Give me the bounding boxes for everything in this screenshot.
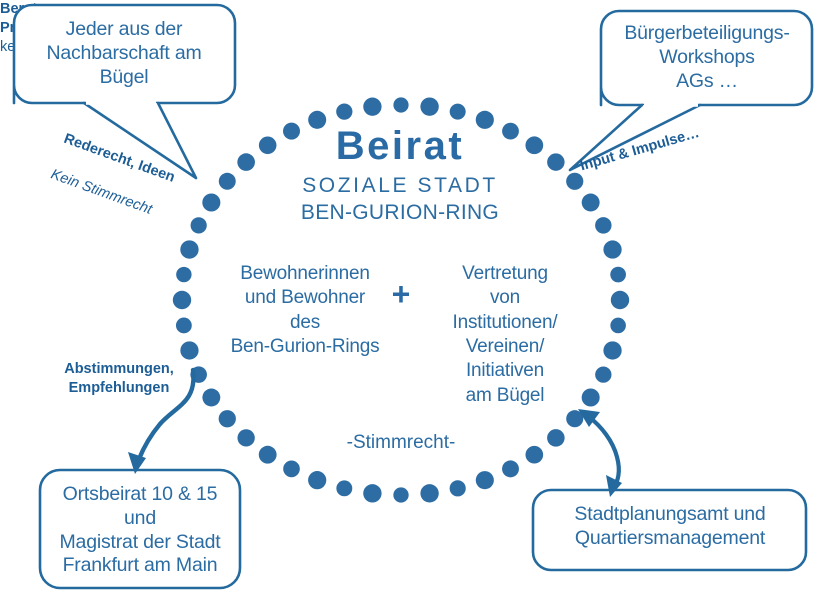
ring-dot bbox=[603, 341, 621, 359]
ring-dot bbox=[610, 318, 626, 334]
ring-dot bbox=[176, 318, 192, 334]
ring-dot bbox=[476, 471, 494, 489]
speech-bubble-top-left-text: Jeder aus der Nachbarschaft am Bügel bbox=[20, 18, 228, 89]
ring-dot bbox=[202, 193, 220, 211]
ring-dot bbox=[525, 446, 543, 464]
ring-dot bbox=[393, 97, 408, 112]
ring-dot bbox=[363, 98, 381, 116]
ring-dot bbox=[595, 217, 611, 233]
page-title: Beirat bbox=[260, 126, 540, 166]
ring-dot bbox=[610, 267, 626, 283]
subtitle-soziale-stadt: SOZIALE STADT bbox=[260, 175, 540, 196]
ring-dot bbox=[450, 104, 466, 120]
ring-dot bbox=[420, 484, 438, 502]
voting-rights-note: -Stimmrecht- bbox=[318, 431, 484, 454]
speech-bubble-top-right-text: Bürgerbeteiligungs- Workshops AGs … bbox=[606, 22, 808, 93]
ring-dot bbox=[237, 429, 254, 446]
ring-dot bbox=[219, 173, 236, 190]
ring-dot bbox=[450, 480, 466, 496]
box-bottom-right-text: Stadtplanungsamt und Quartiersmanagement bbox=[537, 503, 803, 551]
ring-dot bbox=[259, 446, 277, 464]
ring-dot bbox=[547, 429, 565, 447]
ring-dot bbox=[173, 291, 191, 309]
ring-dot bbox=[202, 389, 220, 407]
diagram-canvas: Jeder aus der Nachbarschaft am Bügel Bür… bbox=[0, 0, 820, 600]
ring-column-residents: Bewohnerinnen und Bewohner des Ben-Gurio… bbox=[212, 262, 398, 359]
ring-dot bbox=[595, 366, 611, 382]
ring-dot bbox=[219, 410, 236, 427]
ring-dot bbox=[393, 487, 408, 502]
subtitle-ben-gurion-ring: BEN-GURION-RING bbox=[260, 202, 540, 223]
ring-dot bbox=[237, 153, 255, 171]
ring-dot bbox=[283, 461, 300, 478]
ring-dot bbox=[336, 104, 352, 120]
ring-dot bbox=[180, 341, 198, 359]
plus-icon: + bbox=[383, 278, 419, 310]
ring-dot bbox=[336, 480, 352, 496]
ring-dot bbox=[582, 194, 600, 212]
ring-dot bbox=[308, 471, 326, 489]
box-bottom-left-text: Ortsbeirat 10 & 15 und Magistrat der Sta… bbox=[44, 483, 236, 578]
ring-dot bbox=[566, 173, 583, 190]
ring-dot bbox=[502, 460, 519, 477]
ring-dot bbox=[603, 240, 621, 258]
double-headed-arrow-icon bbox=[578, 409, 622, 497]
ring-column-institutions: Vertretung von Institutionen/ Vereinen/ … bbox=[424, 262, 586, 408]
ring-dot bbox=[363, 484, 381, 502]
connector-label-bottom-left: Abstimmungen, Empfehlungen bbox=[44, 360, 194, 398]
ring-dot bbox=[611, 291, 629, 309]
ring-dot bbox=[176, 267, 191, 282]
ring-dot bbox=[547, 153, 564, 170]
ring-dot bbox=[420, 97, 438, 115]
